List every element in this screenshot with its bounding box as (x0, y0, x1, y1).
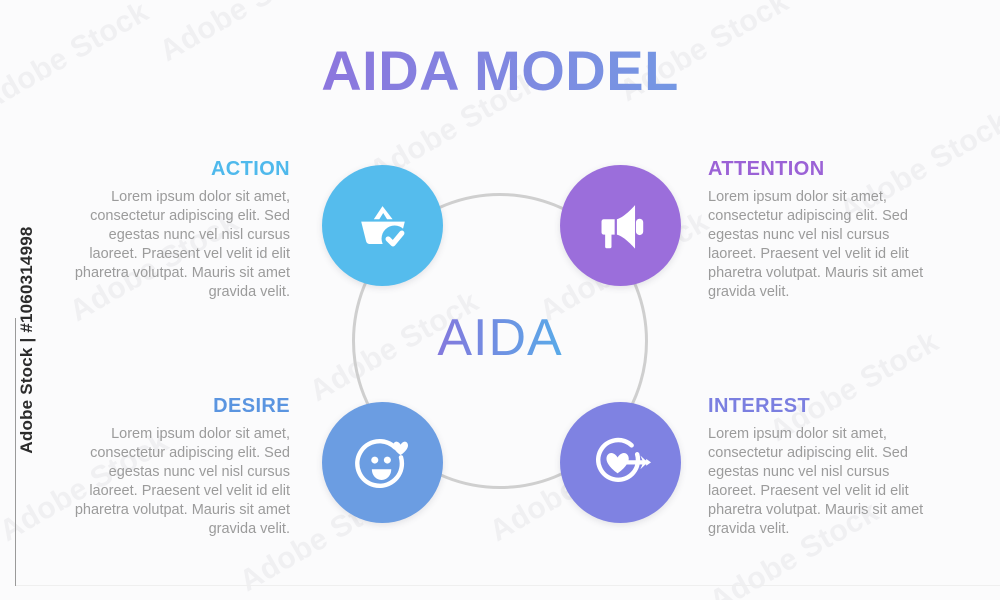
page-title: AIDA MODEL (0, 38, 1000, 103)
node-circle-attention[interactable] (560, 165, 681, 286)
text-block-interest: INTEREST Lorem ipsum dolor sit amet, con… (708, 395, 940, 539)
shopping-basket-check-icon (352, 195, 414, 257)
text-block-action: ACTION Lorem ipsum dolor sit amet, conse… (58, 158, 290, 302)
center-label: AIDA (352, 308, 648, 368)
body-attention: Lorem ipsum dolor sit amet, consectetur … (708, 188, 940, 302)
body-interest: Lorem ipsum dolor sit amet, consectetur … (708, 425, 940, 539)
heading-attention: ATTENTION (708, 158, 940, 181)
stock-credit-bar: Adobe Stock | #1060314998 (14, 0, 44, 600)
credit-divider (15, 318, 16, 586)
node-circle-action[interactable] (322, 165, 443, 286)
heading-interest: INTEREST (708, 395, 940, 418)
text-block-desire: DESIRE Lorem ipsum dolor sit amet, conse… (58, 395, 290, 539)
text-block-attention: ATTENTION Lorem ipsum dolor sit amet, co… (708, 158, 940, 302)
smiley-heart-icon (352, 432, 414, 494)
infographic-canvas: Adobe Stock Adobe Stock Adobe Stock Adob… (0, 0, 1000, 600)
stock-credit-label: Adobe Stock | #1060314998 (17, 215, 37, 465)
body-action: Lorem ipsum dolor sit amet, consectetur … (58, 188, 290, 302)
heading-action: ACTION (58, 158, 290, 181)
heading-desire: DESIRE (58, 395, 290, 418)
node-circle-desire[interactable] (322, 402, 443, 523)
megaphone-icon (592, 197, 650, 255)
heart-target-arrow-icon (590, 432, 652, 494)
body-desire: Lorem ipsum dolor sit amet, consectetur … (58, 425, 290, 539)
bottom-divider (16, 585, 1000, 586)
node-circle-interest[interactable] (560, 402, 681, 523)
